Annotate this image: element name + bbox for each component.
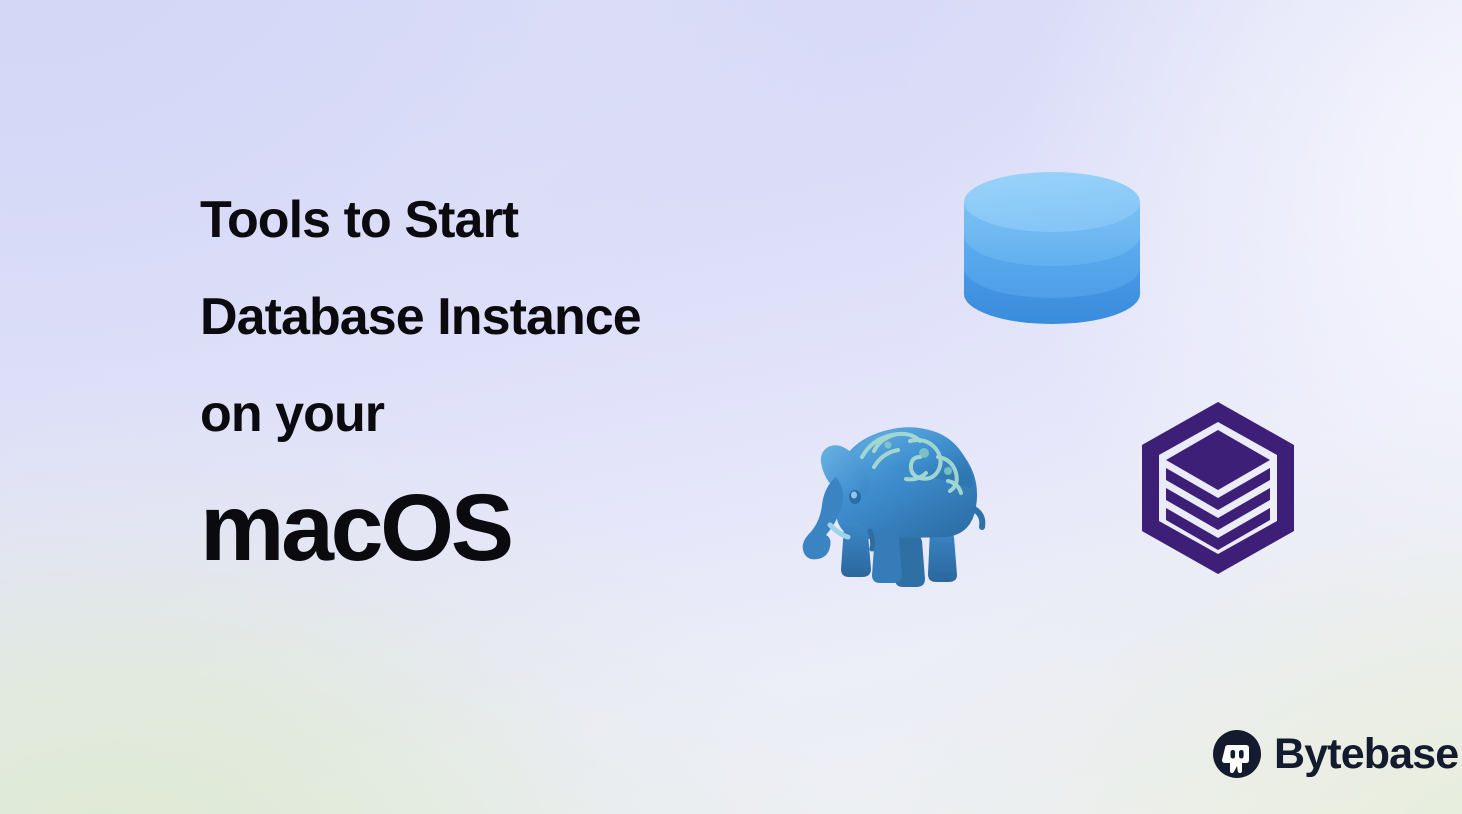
banner-root: Tools to Start Database Instance on your…: [0, 0, 1462, 814]
hexagon-stack-icon: [1128, 398, 1308, 578]
brand-logo: Bytebase: [1212, 729, 1458, 779]
headline-line-1: Tools to Start: [200, 172, 900, 269]
postgresql-elephant-icon: [798, 405, 1003, 590]
bytebase-logo-icon: [1212, 729, 1262, 779]
page-title: Tools to Start Database Instance on your…: [200, 172, 900, 587]
headline-line-3: on your: [200, 366, 900, 463]
brand-name: Bytebase: [1274, 733, 1458, 776]
database-cylinder-icon: [958, 168, 1146, 333]
headline-line-2: Database Instance: [200, 269, 900, 366]
headline-line-4: macOS: [200, 469, 900, 587]
